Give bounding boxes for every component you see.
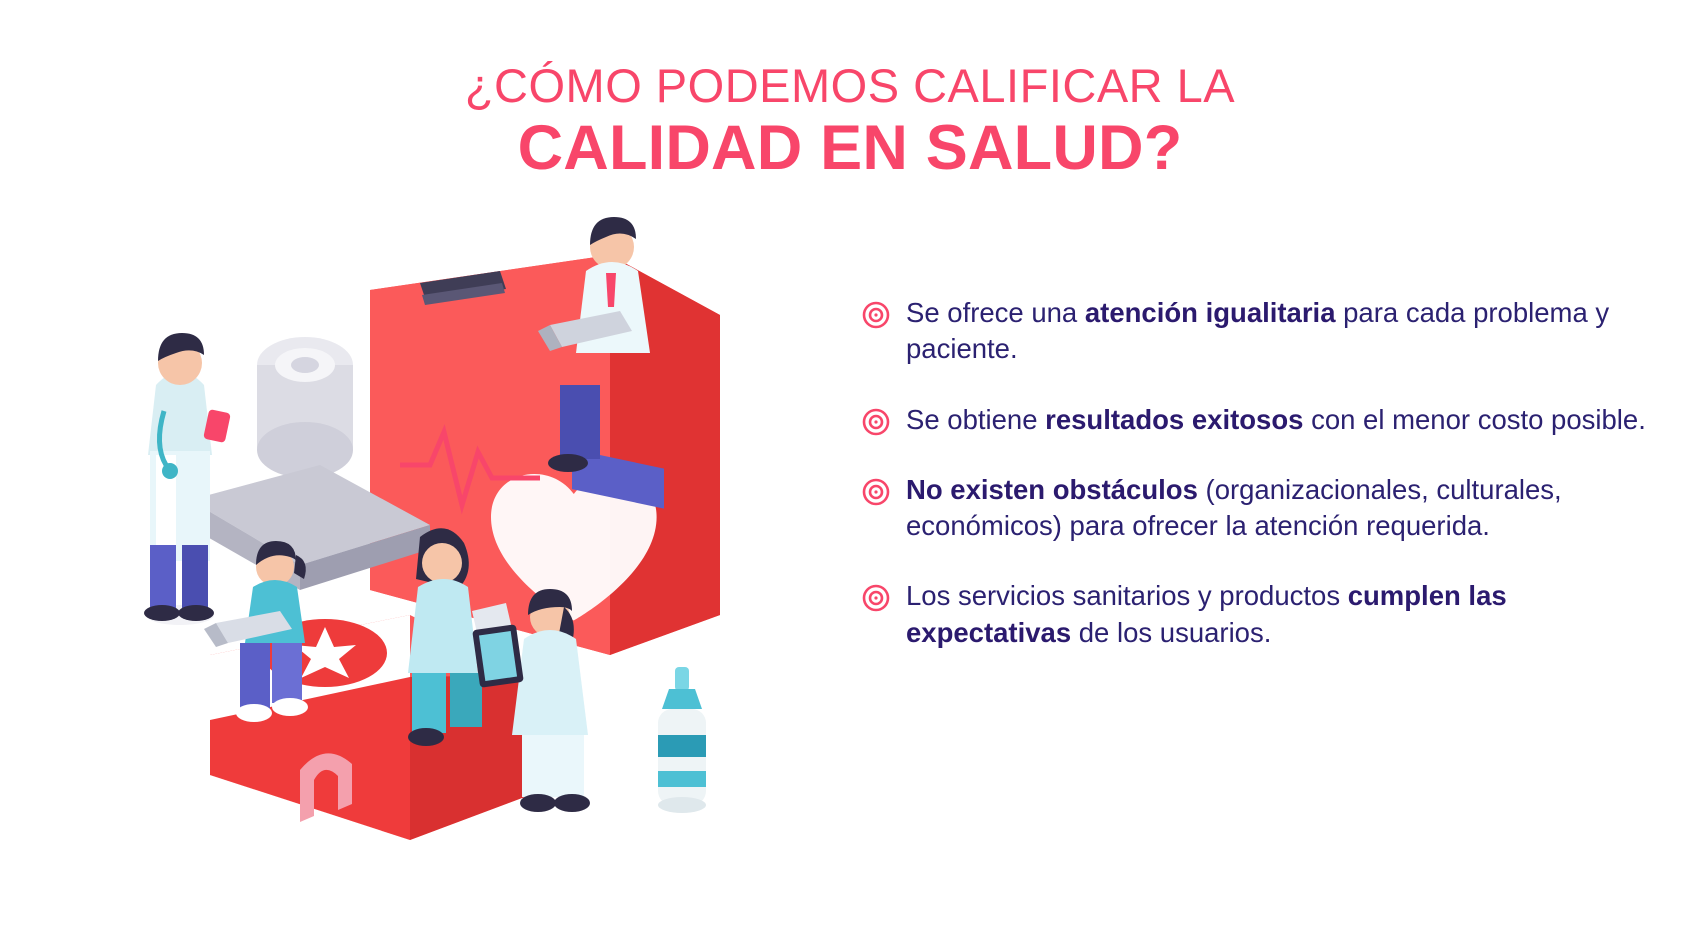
target-bullet-icon	[862, 301, 890, 329]
target-bullet-icon	[862, 584, 890, 612]
bullet-text: Se ofrece una atención igualitaria para …	[906, 295, 1652, 368]
list-item: Se ofrece una atención igualitaria para …	[862, 295, 1652, 368]
page-title-line2: CALIDAD EN SALUD?	[0, 115, 1700, 181]
target-bullet-icon	[862, 408, 890, 436]
bullet-list: Se ofrece una atención igualitaria para …	[862, 295, 1652, 685]
title-block: ¿CÓMO PODEMOS CALIFICAR LA CALIDAD EN SA…	[0, 62, 1700, 181]
doctor-standing-with-clipboard	[144, 333, 231, 625]
isometric-medical-illustration	[120, 215, 840, 905]
page-title-line1: ¿CÓMO PODEMOS CALIFICAR LA	[0, 62, 1700, 111]
list-item: Los servicios sanitarios y productos cum…	[862, 578, 1652, 651]
bullet-text: Los servicios sanitarios y productos cum…	[906, 578, 1652, 651]
bullet-text: Se obtiene resultados exitosos con el me…	[906, 402, 1646, 438]
list-item: Se obtiene resultados exitosos con el me…	[862, 402, 1652, 438]
list-item: No existen obstáculos (organizacionales,…	[862, 472, 1652, 545]
eye-drops-bottle	[658, 667, 706, 813]
bandage-roll	[257, 337, 353, 478]
bullet-text: No existen obstáculos (organizacionales,…	[906, 472, 1652, 545]
target-bullet-icon	[862, 478, 890, 506]
slide-root: ¿CÓMO PODEMOS CALIFICAR LA CALIDAD EN SA…	[0, 0, 1700, 935]
